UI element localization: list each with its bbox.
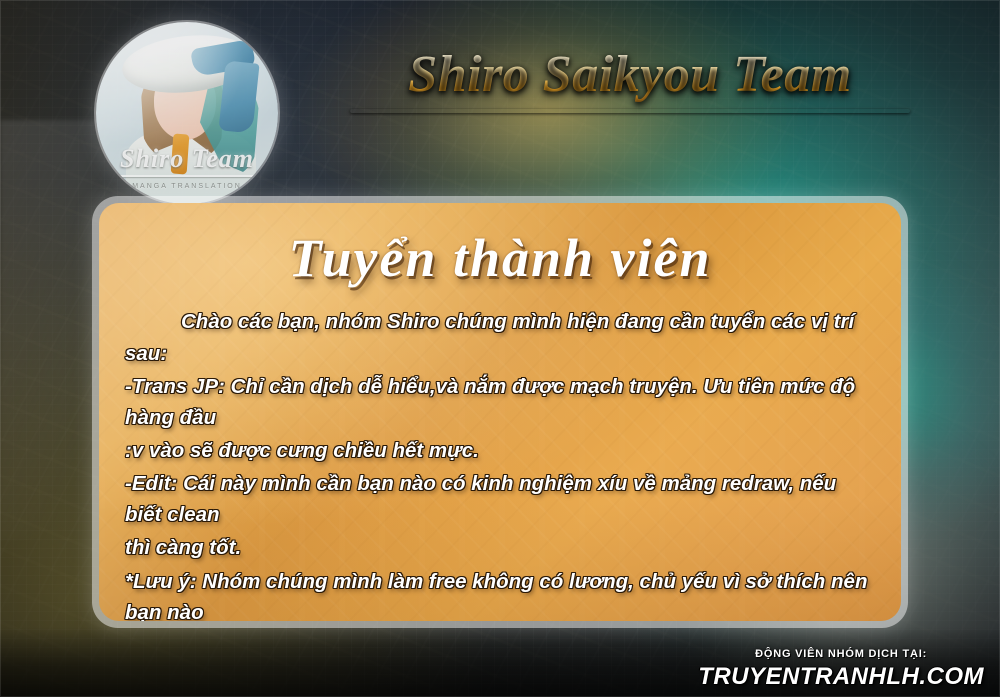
panel-content: Tuyển thành viên Chào các bạn, nhóm Shir… (99, 203, 901, 621)
footer-site-name[interactable]: TRUYENTRANHLH.COM (698, 664, 984, 689)
team-logo: Shiro Team MANGA TRANSLATION (96, 22, 278, 204)
footer-credit: ĐỘNG VIÊN NHÓM DỊCH TẠI: TRUYENTRANHLH.C… (698, 649, 984, 689)
recruitment-panel: Tuyển thành viên Chào các bạn, nhóm Shir… (99, 203, 901, 621)
logo-name: Shiro Team (96, 144, 278, 174)
footer-credit-label: ĐỘNG VIÊN NHÓM DỊCH TẠI: (698, 649, 984, 661)
logo-subtitle: MANGA TRANSLATION (96, 183, 278, 190)
site-title-underline (350, 109, 910, 113)
body-line-4: -Edit: Cái này mình cần bạn nào có kinh … (125, 468, 875, 530)
site-title-block: Shiro Saikyou Team (300, 48, 960, 113)
body-line-6: *Lưu ý: Nhóm chúng mình làm free không c… (125, 566, 875, 621)
body-line-3: :v vào sẽ được cưng chiều hết mực. (125, 435, 875, 466)
scanlation-credit-page: Shiro Team MANGA TRANSLATION Shiro Saiky… (0, 0, 1000, 697)
recruitment-panel-frame: Tuyển thành viên Chào các bạn, nhóm Shir… (92, 196, 908, 628)
site-title: Shiro Saikyou Team (300, 48, 960, 103)
logo-divider (120, 175, 254, 177)
body-line-2: -Trans JP: Chỉ cần dịch dễ hiểu,và nắm đ… (125, 371, 875, 433)
recruitment-body: Chào các bạn, nhóm Shiro chúng mình hiện… (125, 306, 875, 621)
body-line-1: Chào các bạn, nhóm Shiro chúng mình hiện… (125, 306, 875, 368)
body-line-5: thì càng tốt. (125, 532, 875, 563)
panel-heading: Tuyển thành viên (125, 229, 875, 288)
